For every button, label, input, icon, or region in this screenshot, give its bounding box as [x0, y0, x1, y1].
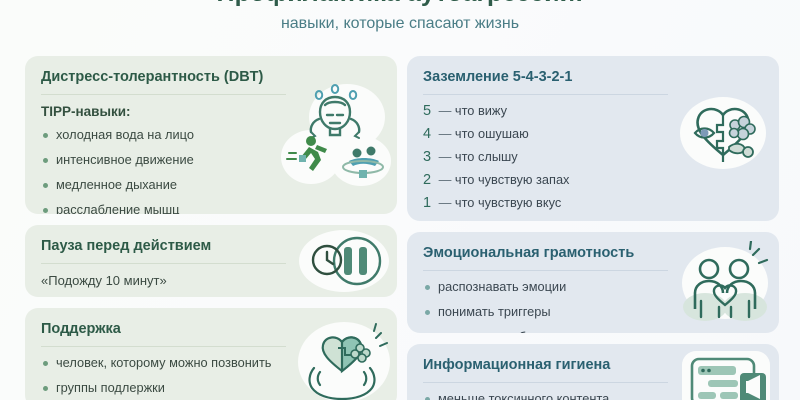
step-number: 4: [423, 126, 435, 142]
left-column: Дистресс-толерантность (DBT) TIPP-навыки…: [25, 56, 397, 400]
step-number: 2: [423, 172, 435, 188]
card-distress-tolerance[interactable]: Дистресс-толерантность (DBT) TIPP-навыки…: [25, 56, 397, 214]
page-header: Профилактика аутоагрессии: навыки, котор…: [0, 0, 800, 34]
heart-hands-icon: [290, 320, 395, 400]
clock-pause-icon: [295, 228, 393, 294]
card-title: Заземление 5-4-3-2-1: [423, 68, 763, 87]
list-item: 1 — что чувствую вкус: [423, 195, 763, 211]
list-item: расслабление мышц: [41, 202, 381, 214]
step-dash: —: [439, 149, 452, 164]
step-dash: —: [439, 103, 452, 118]
divider: [423, 94, 668, 95]
divider: [41, 346, 286, 347]
divider: [423, 382, 668, 383]
page-title: Профилактика аутоагрессии:: [0, 0, 800, 8]
card-grounding[interactable]: Заземление 5-4-3-2-1 5 — что вижу 4 — чт…: [407, 56, 779, 221]
divider: [423, 270, 668, 271]
card-pause-before-action[interactable]: Пауза перед действием «Подожду 10 минут»: [25, 225, 397, 297]
step-text: что вижу: [455, 103, 507, 118]
browser-megaphone-icon: [678, 351, 773, 400]
card-support[interactable]: Поддержка человек, которому можно позвон…: [25, 308, 397, 400]
divider: [41, 94, 286, 95]
step-number: 1: [423, 195, 435, 211]
card-emotional-literacy[interactable]: Эмоциональная грамотность распознавать э…: [407, 232, 779, 333]
list-item: разрешать себе чувствовать: [423, 329, 763, 333]
card-information-hygiene[interactable]: Информационная гигиена меньше токсичного…: [407, 344, 779, 400]
heart-senses-icon: [673, 89, 773, 181]
two-people-heart-icon: [675, 241, 775, 325]
infographic-page: Профилактика аутоагрессии: навыки, котор…: [0, 0, 800, 400]
page-subtitle: навыки, которые спасают жизнь: [0, 14, 800, 34]
step-dash: —: [439, 195, 452, 210]
step-text: что ошушаю: [455, 126, 529, 141]
right-column: Заземление 5-4-3-2-1 5 — что вижу 4 — чт…: [407, 56, 779, 400]
divider: [41, 263, 286, 264]
stressed-person-icon: [275, 75, 395, 195]
step-number: 5: [423, 103, 435, 119]
step-number: 3: [423, 149, 435, 165]
step-text: что слышу: [455, 149, 518, 164]
step-dash: —: [439, 172, 452, 187]
step-text: что чувствую вкус: [455, 195, 561, 210]
step-dash: —: [439, 126, 452, 141]
step-text: что чувствую запах: [455, 172, 570, 187]
